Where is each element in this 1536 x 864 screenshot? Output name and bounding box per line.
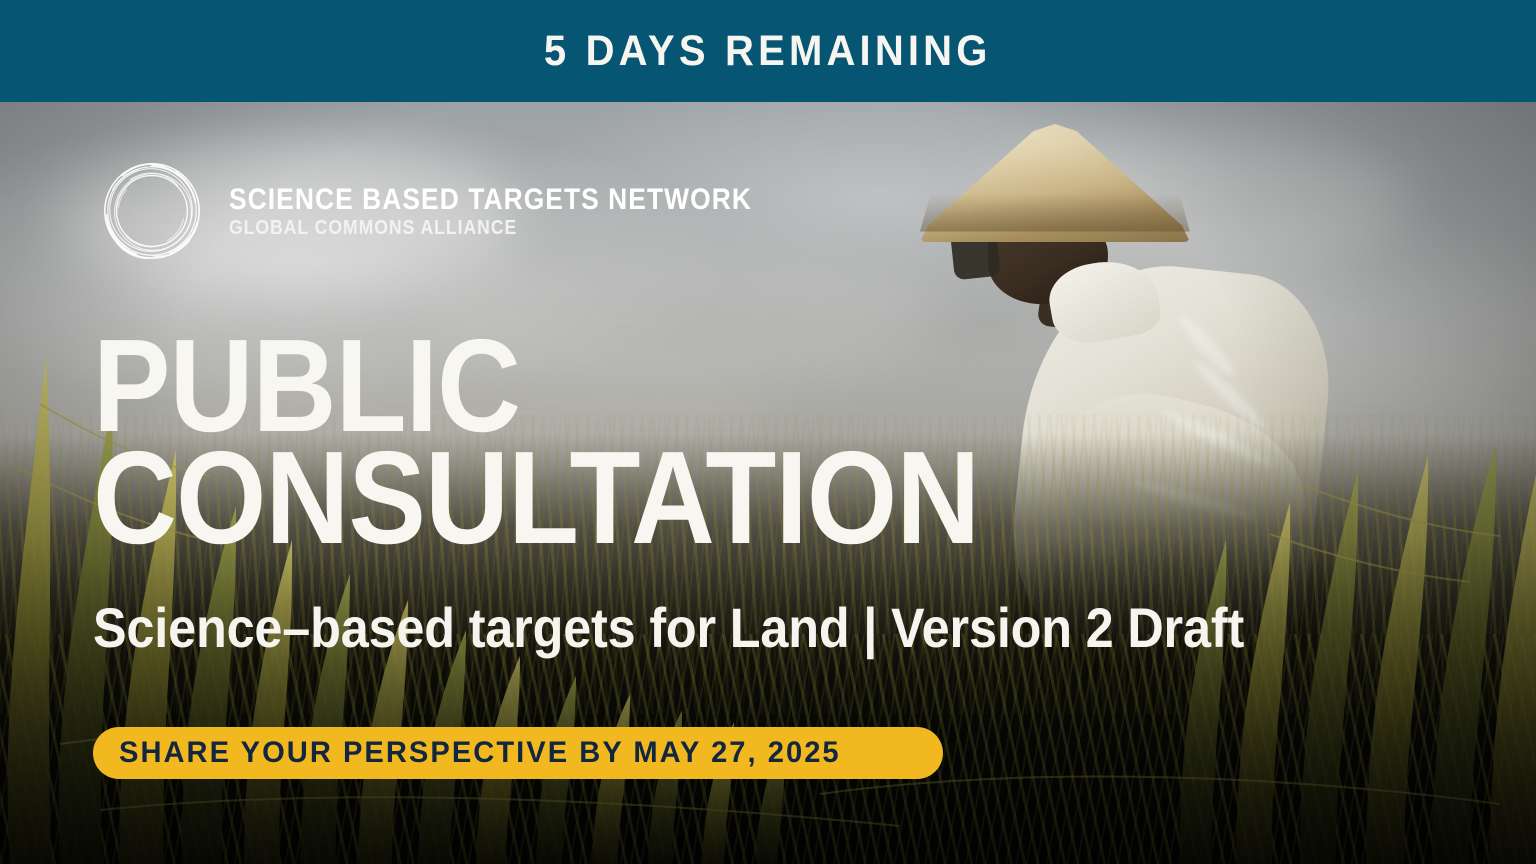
countdown-banner: 5 DAYS REMAINING [0, 0, 1536, 102]
headline-block: PUBLIC CONSULTATION [93, 330, 1100, 554]
countdown-text: 5 DAYS REMAINING [544, 30, 992, 73]
logo-parent-name: GLOBAL COMMONS ALLIANCE [229, 218, 752, 238]
sbtn-circular-ring-logo-icon [93, 150, 211, 272]
subtitle-text: Science–based targets for Land | Version… [93, 598, 1244, 658]
promo-poster: 5 DAYS REMAINING [0, 0, 1536, 864]
cta-label: SHARE YOUR PERSPECTIVE BY MAY 27, 2025 [119, 738, 841, 768]
sbtn-logo-lockup: SCIENCE BASED TARGETS NETWORK GLOBAL COM… [93, 150, 823, 272]
cta-pill-button[interactable]: SHARE YOUR PERSPECTIVE BY MAY 27, 2025 [93, 727, 943, 779]
logo-wordmark: SCIENCE BASED TARGETS NETWORK GLOBAL COM… [229, 185, 823, 238]
headline-line-2: CONSULTATION [93, 442, 979, 554]
logo-organization-name: SCIENCE BASED TARGETS NETWORK [229, 185, 752, 215]
